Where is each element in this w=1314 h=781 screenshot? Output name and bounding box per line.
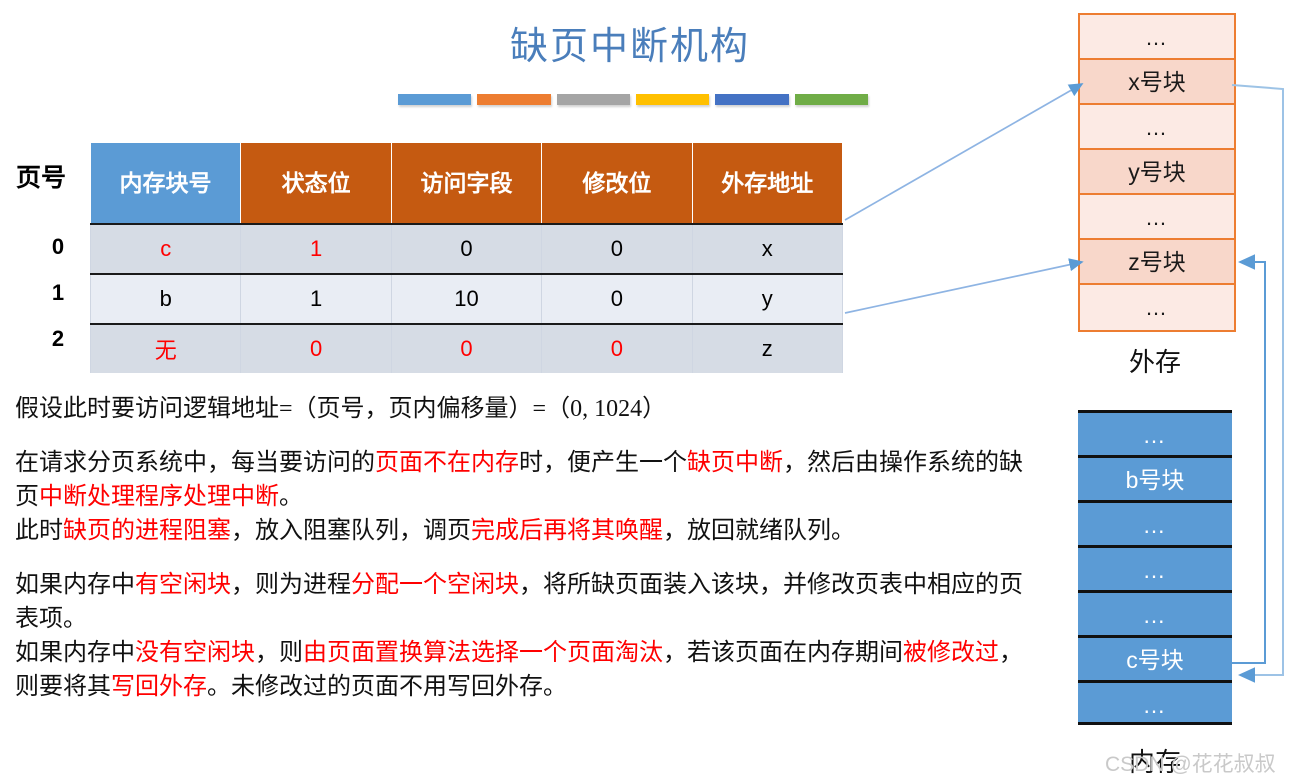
p3-seg1: 如果内存中 xyxy=(15,572,135,598)
p4-highlight1: 没有空闲块 xyxy=(135,640,255,666)
table-row: b1100y xyxy=(91,274,843,324)
p4-seg2: ，则 xyxy=(255,640,303,666)
p1-seg4: 。 xyxy=(279,484,303,510)
p4-highlight4: 写回外存 xyxy=(111,674,207,700)
p4-seg3: ，若该页面在内存期间 xyxy=(663,640,903,666)
p1-highlight3: 中断处理程序处理中断 xyxy=(39,484,279,510)
page-table-cell-r0-c2: 0 xyxy=(391,224,541,274)
page-table-cell-r2-c0: 无 xyxy=(91,324,241,373)
p1-highlight1: 页面不在内存 xyxy=(375,450,519,476)
page-table-header-1: 状态位 xyxy=(241,143,391,224)
page-table-cell-r1-c2: 10 xyxy=(391,274,541,324)
p2-seg2: ，放入阻塞队列，调页 xyxy=(231,518,471,544)
external-memory-cell-0: … xyxy=(1080,15,1234,60)
external-memory-cell-4: … xyxy=(1080,195,1234,240)
p3-seg2: ，则为进程 xyxy=(231,572,351,598)
external-memory-caption: 外存 xyxy=(1078,342,1232,379)
page-table-header-2: 访问字段 xyxy=(391,143,541,224)
page-number-0: 0 xyxy=(30,224,86,270)
p3-highlight2: 分配一个空闲块 xyxy=(351,572,519,598)
external-memory-cell-5: z号块 xyxy=(1080,240,1234,285)
bar-yellow xyxy=(636,94,709,105)
external-memory-cell-3: y号块 xyxy=(1080,150,1234,195)
p1-seg1: 在请求分页系统中，每当要访问的 xyxy=(15,450,375,476)
page-table-cell-r1-c3: 0 xyxy=(542,274,692,324)
page-title: 缺页中断机构 xyxy=(390,22,870,72)
page-table-cell-r2-c2: 0 xyxy=(391,324,541,373)
table-row: 无000z xyxy=(91,324,843,373)
arrow-table-to-x-block xyxy=(845,84,1082,220)
page-table-cell-r0-c4: x xyxy=(692,224,842,274)
internal-memory-cell-5: c号块 xyxy=(1078,635,1232,680)
external-memory-cell-2: … xyxy=(1080,105,1234,150)
bar-green xyxy=(795,94,868,105)
page-table-body: c100xb1100y无000z xyxy=(91,224,843,373)
p2-highlight1: 缺页的进程阻塞 xyxy=(63,518,231,544)
external-memory-cell-1: x号块 xyxy=(1080,60,1234,105)
page-table-cell-r0-c1: 1 xyxy=(241,224,391,274)
title-decoration-bars xyxy=(398,94,868,105)
internal-memory-cell-1: b号块 xyxy=(1078,455,1232,500)
page-table-header-4: 外存地址 xyxy=(692,143,842,224)
page-table-cell-r2-c3: 0 xyxy=(542,324,692,373)
p4-seg5: 。未修改过的页面不用写回外存。 xyxy=(207,674,567,700)
bar-orange xyxy=(477,94,550,105)
page-number-column: 012 xyxy=(30,224,86,362)
p4-highlight2: 由页面置换算法选择一个页面淘汰 xyxy=(303,640,663,666)
p2-seg3: ，放回就绪队列。 xyxy=(663,518,855,544)
bar-dark-blue xyxy=(715,94,788,105)
table-row: c100x xyxy=(91,224,843,274)
internal-memory-diagram: …b号块………c号块… xyxy=(1078,410,1232,725)
internal-memory-cell-4: … xyxy=(1078,590,1232,635)
logical-address-text: 假设此时要访问逻辑地址=（页号，页内偏移量）=（0, 1024） xyxy=(15,396,666,422)
explanation-text: 假设此时要访问逻辑地址=（页号，页内偏移量）=（0, 1024） 在请求分页系统… xyxy=(15,392,1025,704)
bar-gray xyxy=(557,94,630,105)
internal-memory-cell-3: … xyxy=(1078,545,1232,590)
paragraph-process-block: 此时缺页的进程阻塞，放入阻塞队列，调页完成后再将其唤醒，放回就绪队列。 xyxy=(15,514,1025,548)
external-memory-diagram: …x号块…y号块…z号块… xyxy=(1078,13,1236,332)
internal-memory-cell-2: … xyxy=(1078,500,1232,545)
page-table-cell-r1-c1: 1 xyxy=(241,274,391,324)
connector-c-block-to-z-block xyxy=(1232,262,1265,663)
page-table-cell-r2-c4: z xyxy=(692,324,842,373)
p1-seg2: 时，便产生一个 xyxy=(519,450,687,476)
page-table-header-row: 内存块号状态位访问字段修改位外存地址 xyxy=(91,143,843,224)
spacer xyxy=(15,548,1025,568)
p1-highlight2: 缺页中断 xyxy=(687,450,783,476)
spacer xyxy=(15,426,1025,446)
p4-highlight3: 被修改过 xyxy=(903,640,999,666)
p2-highlight2: 完成后再将其唤醒 xyxy=(471,518,663,544)
page-table-header-3: 修改位 xyxy=(542,143,692,224)
arrow-table-to-z-block xyxy=(845,262,1082,313)
paragraph-free-block: 如果内存中有空闲块，则为进程分配一个空闲块，将所缺页面装入该块，并修改页表中相应… xyxy=(15,568,1025,636)
page-table: 内存块号状态位访问字段修改位外存地址 c100xb1100y无000z xyxy=(90,143,843,373)
page-table-cell-r2-c1: 0 xyxy=(241,324,391,373)
page-table-cell-r1-c4: y xyxy=(692,274,842,324)
page-table-cell-r0-c0: c xyxy=(91,224,241,274)
page-number-1: 1 xyxy=(30,270,86,316)
bar-blue xyxy=(398,94,471,105)
paragraph-no-free-block: 如果内存中没有空闲块，则由页面置换算法选择一个页面淘汰，若该页面在内存期间被修改… xyxy=(15,636,1025,704)
page-table-cell-r1-c0: b xyxy=(91,274,241,324)
internal-memory-cell-0: … xyxy=(1078,410,1232,455)
page-table-header-0: 内存块号 xyxy=(91,143,241,224)
p2-seg1: 此时 xyxy=(15,518,63,544)
logical-address-line: 假设此时要访问逻辑地址=（页号，页内偏移量）=（0, 1024） xyxy=(15,392,1025,426)
page-table-cell-r0-c3: 0 xyxy=(542,224,692,274)
csdn-watermark: CSDN @花花叔叔 xyxy=(1105,748,1276,778)
external-memory-cell-6: … xyxy=(1080,285,1234,330)
page-number-column-label: 页号 xyxy=(16,158,66,194)
p3-highlight1: 有空闲块 xyxy=(135,572,231,598)
internal-memory-cell-6: … xyxy=(1078,680,1232,725)
paragraph-page-fault: 在请求分页系统中，每当要访问的页面不在内存时，便产生一个缺页中断，然后由操作系统… xyxy=(15,446,1025,514)
connector-x-block-to-c-block xyxy=(1232,85,1283,675)
page-number-2: 2 xyxy=(30,316,86,362)
p4-seg1: 如果内存中 xyxy=(15,640,135,666)
